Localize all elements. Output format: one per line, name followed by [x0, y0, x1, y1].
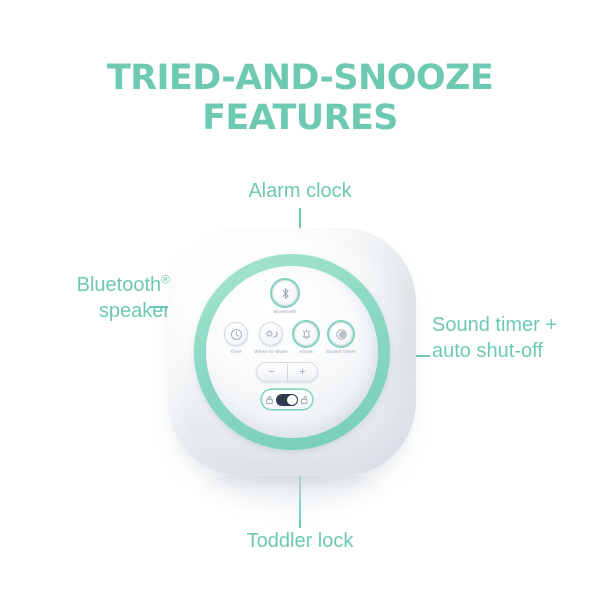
button-time[interactable] [224, 322, 248, 346]
button-alarm[interactable] [294, 322, 318, 346]
callout-toddler-lock-label: Toddler lock [247, 530, 354, 552]
button-when-to-wake[interactable] [259, 322, 283, 346]
bell-icon [300, 328, 313, 341]
minus-icon: − [268, 367, 274, 378]
callout-sound-timer-label-2: auto shut-off [432, 340, 543, 362]
button-label-when-to-wake: When-to-Wake [254, 349, 288, 354]
device-control-face: Bluetooth Time [206, 266, 378, 438]
volume-rocker[interactable]: − + [256, 362, 318, 382]
callout-bluetooth-speaker: Bluetooth® speaker [10, 272, 170, 324]
device-teal-ring: Bluetooth Time [194, 254, 390, 450]
registered-trademark-icon: ® [161, 272, 170, 286]
button-label-alarm: Alarm [299, 349, 313, 354]
sound-machine-device: Bluetooth Time [168, 228, 416, 476]
volume-up-button[interactable]: + [287, 362, 318, 382]
page-title: TRIED-AND-SNOOZE FEATURES [0, 58, 600, 138]
bluetooth-icon [280, 287, 291, 300]
device-reflection [186, 470, 398, 524]
callout-sound-timer-label: Sound timer + [432, 314, 557, 336]
callout-sound-timer: Sound timer + auto shut-off [432, 312, 600, 364]
button-label-time: Time [230, 349, 241, 354]
padlock-closed-icon [265, 395, 274, 405]
infographic-canvas: TRIED-AND-SNOOZE FEATURES Alarm clock Bl… [0, 0, 600, 600]
volume-down-button[interactable]: − [256, 362, 287, 382]
callout-alarm-clock: Alarm clock [0, 178, 600, 204]
button-bluetooth[interactable] [272, 280, 298, 306]
toddler-lock-toggle[interactable] [262, 390, 312, 409]
callout-bluetooth-label-2: speaker [99, 300, 170, 322]
callout-toddler-lock: Toddler lock [0, 528, 600, 554]
button-sound-timer[interactable] [329, 322, 353, 346]
padlock-open-icon [300, 395, 309, 405]
callout-alarm-clock-label: Alarm clock [248, 180, 351, 202]
callout-bluetooth-label: Bluetooth [77, 274, 162, 296]
clock-icon [230, 328, 243, 341]
button-label-bluetooth: Bluetooth [274, 309, 297, 314]
toddler-lock-knob[interactable] [287, 395, 297, 405]
sun-moon-icon [264, 328, 279, 341]
page-title-line-1: TRIED-AND-SNOOZE [107, 58, 493, 98]
page-title-line-2: FEATURES [0, 98, 600, 138]
moon-timer-icon [335, 328, 348, 341]
button-label-sound-timer: Sound Timer [326, 349, 356, 354]
plus-icon: + [299, 367, 305, 378]
toddler-lock-switch[interactable] [276, 394, 298, 406]
rocker-divider [287, 364, 288, 380]
